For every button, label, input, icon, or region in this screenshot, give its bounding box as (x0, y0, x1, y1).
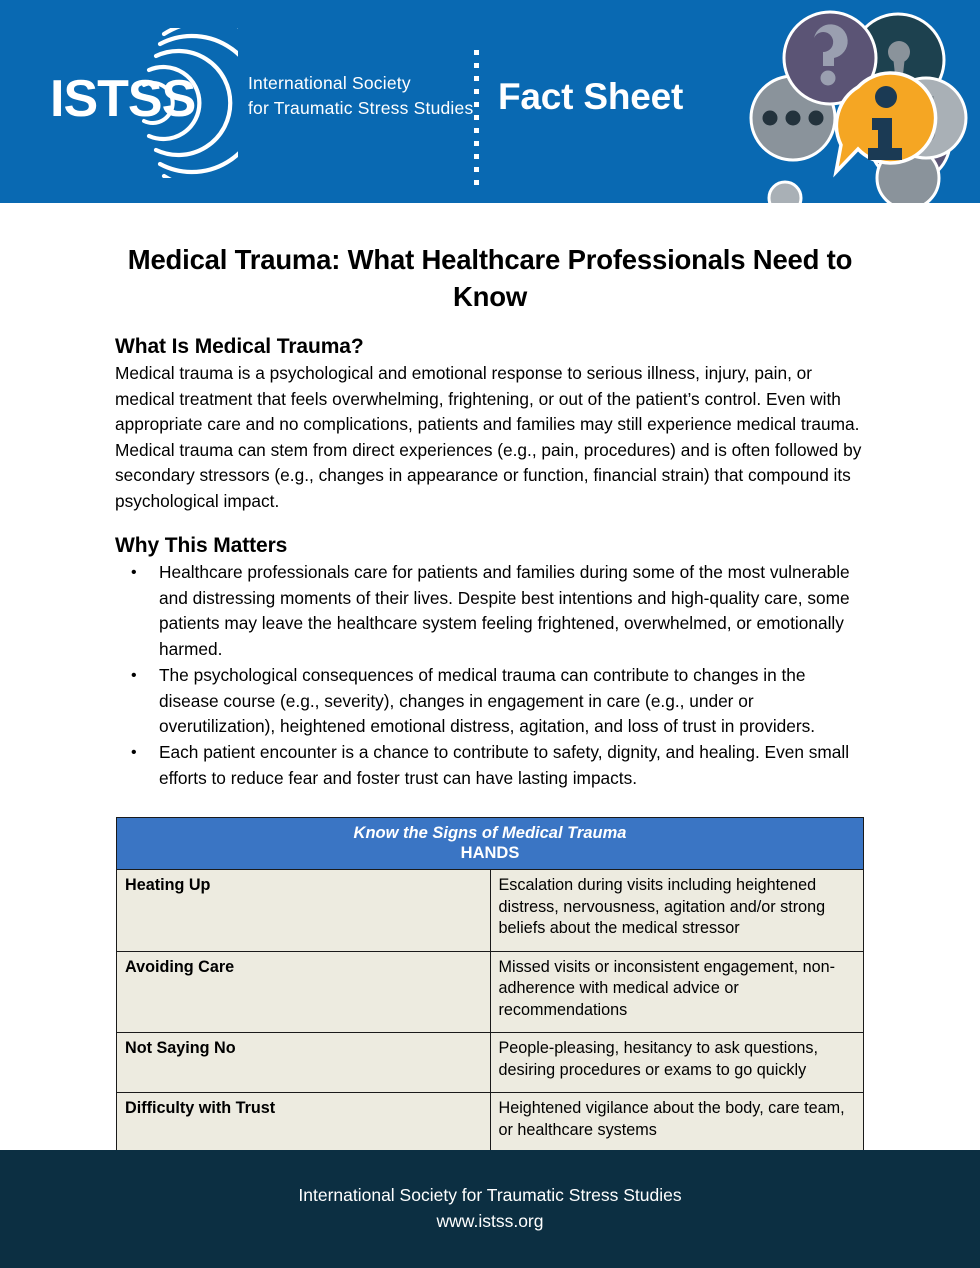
divider-dot (474, 89, 479, 94)
divider-dot (474, 76, 479, 81)
istss-wordmark-text: ISTSS (50, 70, 195, 128)
footer-content: International Society for Traumatic Stre… (0, 1150, 980, 1234)
section-why-this-matters: Why This Matters Healthcare professional… (115, 534, 865, 791)
section-body-what-is-medical-trauma: Medical trauma is a psychological and em… (115, 361, 865, 514)
divider-dot (474, 154, 479, 159)
table-title-line-1: Know the Signs of Medical Trauma (354, 824, 627, 842)
sign-description-cell: Escalation during visits including heigh… (490, 870, 864, 952)
organization-name: International Society for Traumatic Stre… (248, 71, 478, 121)
footer-website-link[interactable]: www.istss.org (0, 1208, 980, 1234)
fact-sheet-label: Fact Sheet (498, 76, 683, 118)
page-title: Medical Trauma: What Healthcare Professi… (118, 241, 862, 315)
table-title-cell: Know the Signs of Medical Trauma HANDS (117, 818, 864, 870)
speech-bubbles-graphic (738, 0, 978, 203)
sign-name-cell: Not Saying No (117, 1033, 491, 1093)
page-footer: International Society for Traumatic Stre… (0, 1150, 980, 1268)
org-name-line-2: for Traumatic Stress Studies (248, 96, 478, 121)
divider-dot (474, 63, 479, 68)
divider-dot (474, 180, 479, 185)
org-name-line-1: International Society (248, 71, 478, 96)
small-grey-dot-icon (769, 182, 801, 203)
divider-dot (474, 102, 479, 107)
divider-dot (474, 128, 479, 133)
page-header-banner: ISTSS International Society for Traumati… (0, 0, 980, 203)
list-item: Each patient encounter is a chance to co… (147, 740, 865, 791)
sign-description-cell: People-pleasing, hesitancy to ask questi… (490, 1033, 864, 1093)
list-item: The psychological consequences of medica… (147, 663, 865, 740)
sign-name-cell: Avoiding Care (117, 951, 491, 1033)
dotted-divider (474, 50, 480, 182)
footer-organization-name: International Society for Traumatic Stre… (0, 1182, 980, 1208)
section-heading-why-this-matters: Why This Matters (115, 534, 865, 558)
section-what-is-medical-trauma: What Is Medical Trauma? Medical trauma i… (115, 335, 865, 514)
sign-name-cell: Difficulty with Trust (117, 1093, 491, 1153)
table-row: Heating Up Escalation during visits incl… (117, 870, 864, 952)
sign-description-cell: Missed visits or inconsistent engagement… (490, 951, 864, 1033)
sign-description-cell: Heightened vigilance about the body, car… (490, 1093, 864, 1153)
divider-dot (474, 115, 479, 120)
divider-dot (474, 141, 479, 146)
divider-dot (474, 50, 479, 55)
divider-dot (474, 167, 479, 172)
document-body: Medical Trauma: What Healthcare Professi… (0, 203, 980, 791)
table-row: Difficulty with Trust Heightened vigilan… (117, 1093, 864, 1153)
section-heading-what-is-medical-trauma: What Is Medical Trauma? (115, 335, 865, 359)
istss-logo-icon: ISTSS (48, 28, 238, 178)
sign-name-cell: Heating Up (117, 870, 491, 952)
table-row: Avoiding Care Missed visits or inconsist… (117, 951, 864, 1033)
istss-logo-block: ISTSS International Society for Traumati… (48, 28, 468, 178)
table-row: Not Saying No People-pleasing, hesitancy… (117, 1033, 864, 1093)
why-this-matters-list: Healthcare professionals care for patien… (115, 560, 865, 791)
list-item: Healthcare professionals care for patien… (147, 560, 865, 663)
table-title-line-2: HANDS (461, 844, 520, 862)
table-header-row: Know the Signs of Medical Trauma HANDS (117, 818, 864, 870)
